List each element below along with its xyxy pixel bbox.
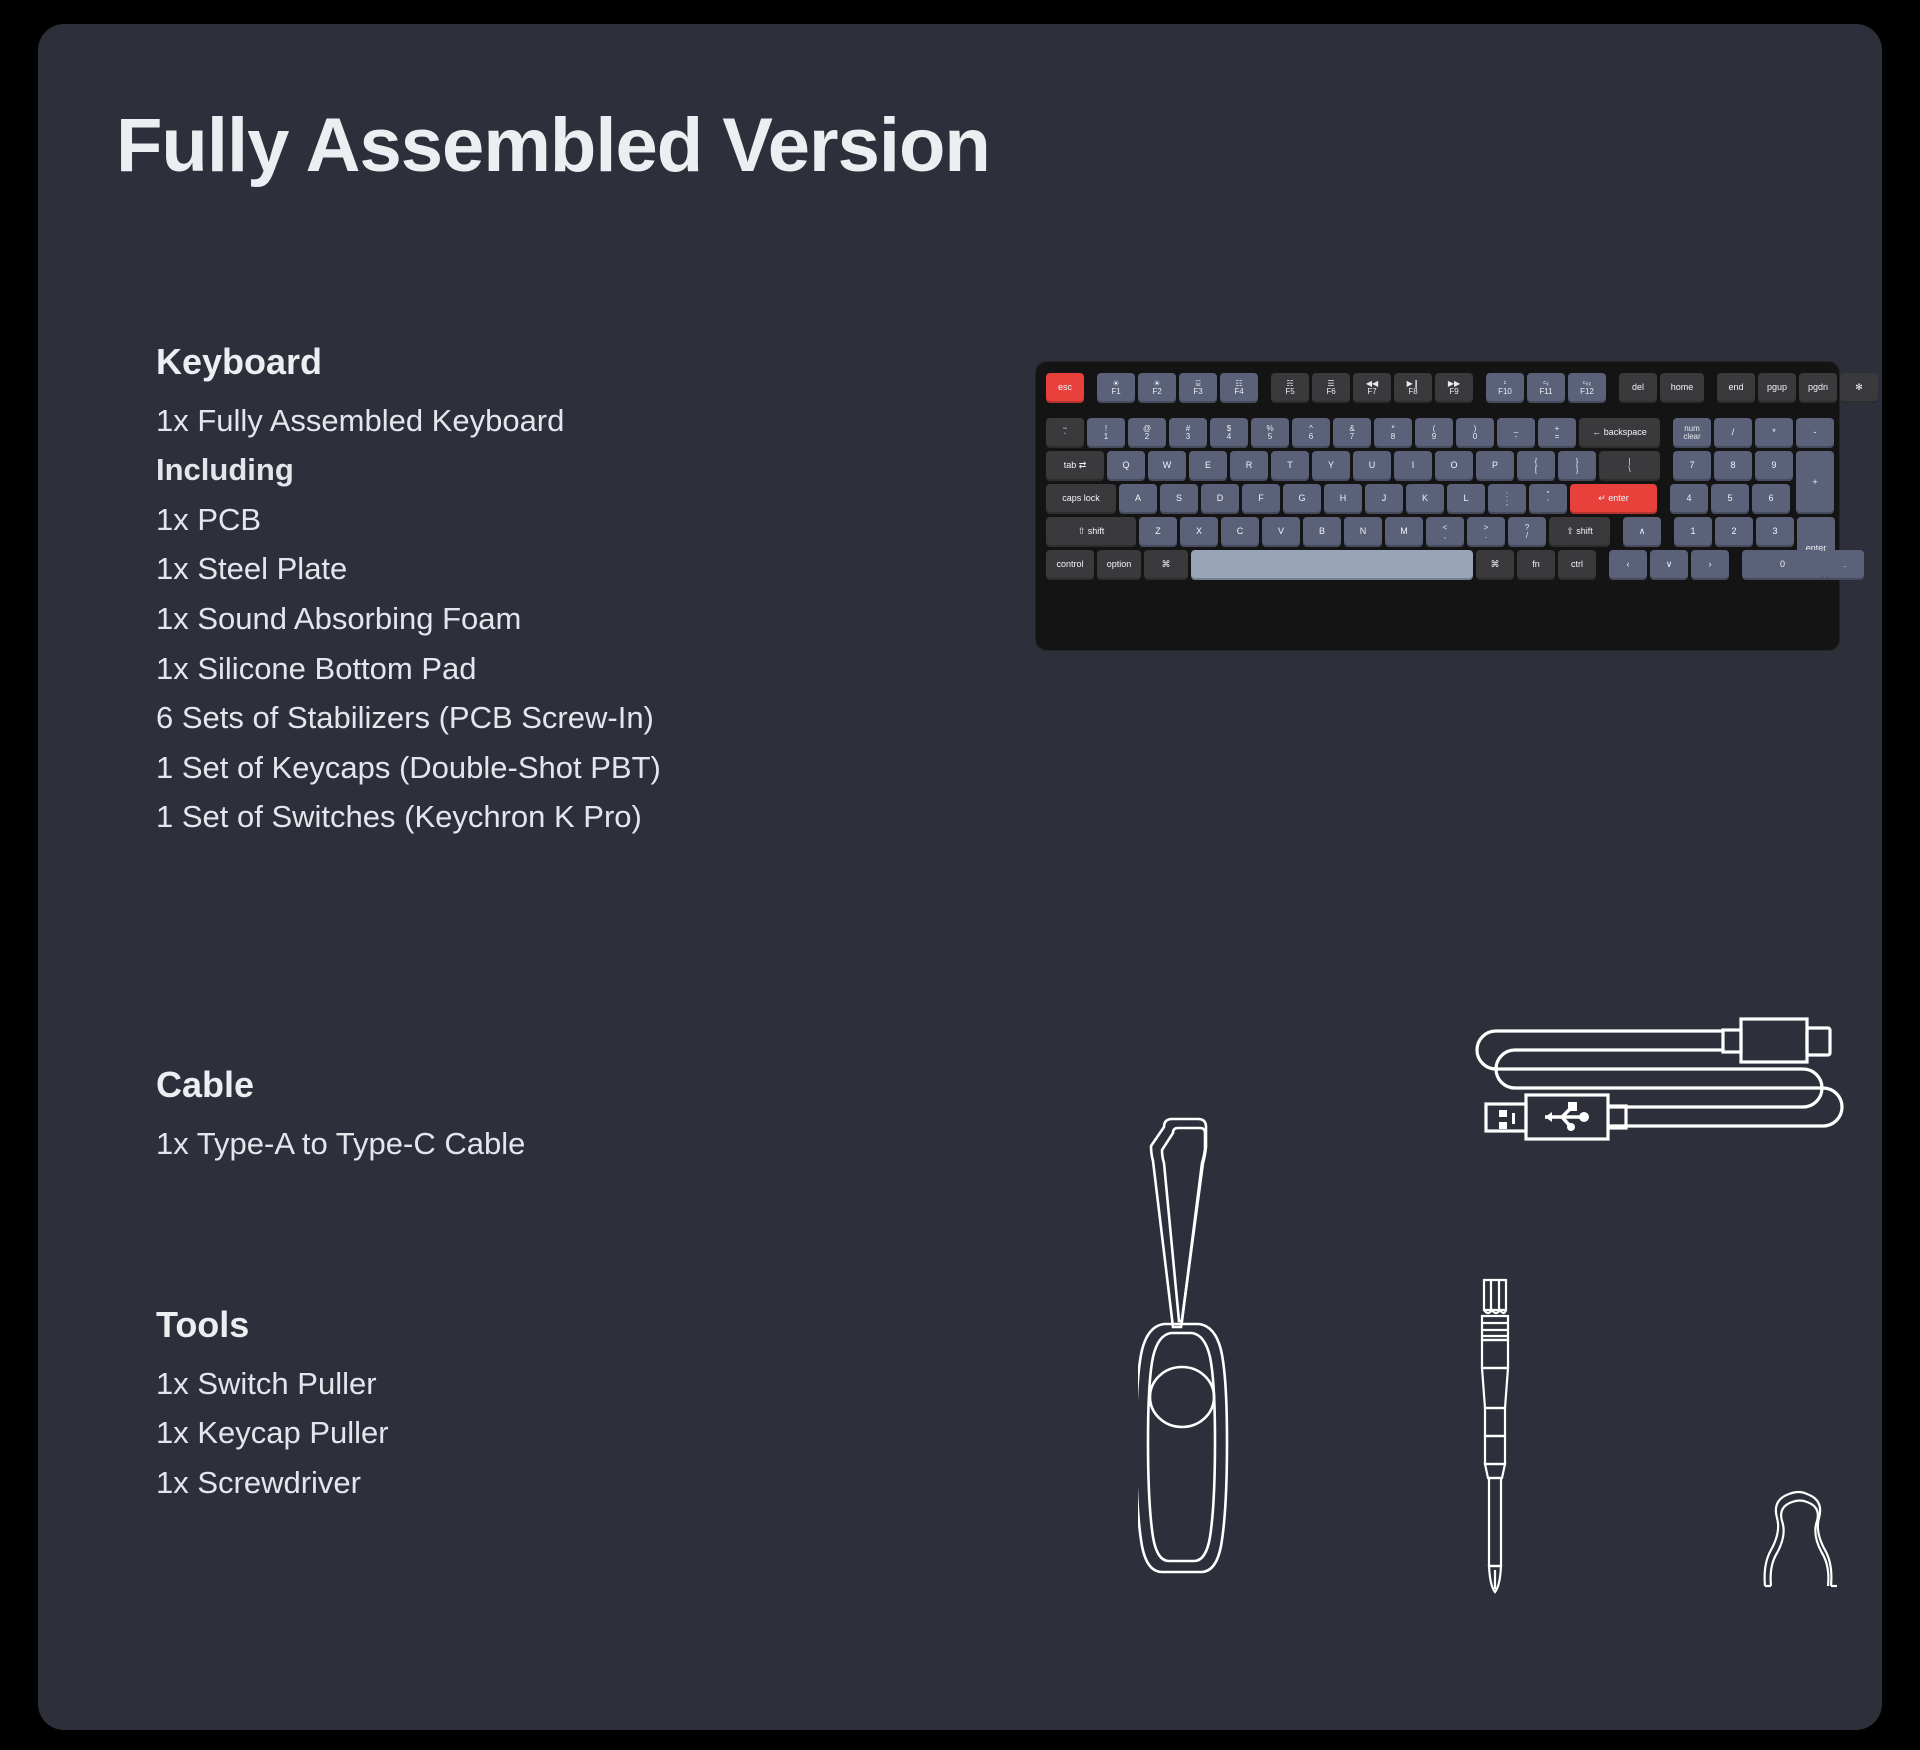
key-legend: esc [1058,383,1072,392]
keyboard-key[interactable]: W [1148,451,1186,481]
keyboard-key[interactable]: 0 [1742,550,1823,580]
keyboard-key[interactable]: L [1447,484,1485,514]
keyboard-key[interactable]: fn [1517,550,1555,580]
keyboard-key[interactable]: R [1230,451,1268,481]
key-legend: control [1056,560,1083,569]
key-legend: tab ⇄ [1064,461,1087,470]
key-legend-bottom: F8 [1408,388,1417,396]
key-legend-bottom: 1 [1104,433,1108,441]
keyboard-key[interactable]: &7 [1333,418,1371,448]
keyboard-key[interactable]: F [1242,484,1280,514]
keyboard-key[interactable]: ∨ [1650,550,1688,580]
key-legend-bottom: ; [1506,499,1508,507]
keycap-puller-illustration [1753,1464,1848,1594]
keyboard-key[interactable]: ☵F5 [1271,373,1309,403]
key-legend-bottom: = [1555,433,1560,441]
key-legend-bottom: 5 [1268,433,1272,441]
keyboard-row-number-row: ~`!1@2#3$4%5^6&7*8(9)0_-+=← backspacenum… [1046,418,1837,448]
key-legend-bottom: clear [1683,433,1700,441]
keyboard-key[interactable]: ⌘ [1144,550,1188,580]
keyboard-key[interactable]: |\ [1599,451,1660,481]
keyboard-key[interactable]: ctrl [1558,550,1596,580]
keyboard-key[interactable]: ▶❙F8 [1394,373,1432,403]
key-legend: / [1732,428,1735,437]
key-legend-bottom: F9 [1449,388,1458,396]
keyboard-row-home-row: caps lockASDFGHJKL:;"'↵ enter456 [1046,484,1793,514]
key-legend: ↵ enter [1598,494,1629,503]
key-legend-bottom: F6 [1326,388,1335,396]
key-legend: ⌘ [1491,560,1500,569]
key-legend-bottom: [ [1535,466,1537,474]
key-legend: ⌘ [1162,560,1171,569]
key-legend: L [1463,494,1468,503]
key-legend: ∧ [1639,527,1646,536]
spec-item: 1x PCB [156,495,661,545]
keyboard-key[interactable]: ∧ [1623,517,1661,547]
keyboard-key[interactable]: option [1097,550,1141,580]
key-legend: B [1319,527,1325,536]
keyboard-key[interactable]: ◀◀F7 [1353,373,1391,403]
keyboard-key[interactable]: P [1476,451,1514,481]
key-legend: - [1814,428,1817,437]
key-legend-bottom: \ [1628,466,1630,474]
key-legend: ctrl [1571,560,1583,569]
key-legend: M [1400,527,1408,536]
keyboard-key[interactable]: X [1180,517,1218,547]
key-legend: pgup [1767,383,1787,392]
key-legend: C [1237,527,1244,536]
keyboard-key[interactable]: ← backspace [1579,418,1660,448]
key-legend: N [1360,527,1367,536]
key-legend: 0 [1780,560,1785,569]
keyboard-key[interactable]: ᶜ‹F11 [1527,373,1565,403]
key-legend: ∨ [1666,560,1673,569]
key-legend: D [1217,494,1224,503]
keyboard-key[interactable]: ⇧ shift [1046,517,1136,547]
keyboard-key[interactable]: * [1755,418,1793,448]
screwdriver-illustration [1478,1274,1518,1604]
keyboard-key[interactable]: V [1262,517,1300,547]
key-legend: Z [1155,527,1161,536]
card-panel: Fully Assembled Version Keyboard 1x Full… [38,24,1882,1730]
keyboard-key[interactable]: 1 [1674,517,1712,547]
key-legend: end [1728,383,1743,392]
section-tools: Tools 1x Switch Puller 1x Keycap Puller … [156,1305,389,1507]
key-legend: I [1412,461,1415,470]
keyboard-key[interactable]: ᶜF10 [1486,373,1524,403]
key-legend: ✻ [1855,383,1863,392]
section-heading: Tools [156,1305,389,1345]
key-legend: X [1196,527,1202,536]
keyboard-key[interactable]: E [1189,451,1227,481]
key-legend: A [1135,494,1141,503]
key-legend-bottom: , [1444,532,1446,540]
keyboard-key[interactable]: #3 [1169,418,1207,448]
key-legend-bottom: F2 [1152,388,1161,396]
keyboard-key[interactable]: %5 [1251,418,1289,448]
keyboard-key[interactable]: }] [1558,451,1596,481]
key-legend-bottom: . [1485,532,1487,540]
keyboard-key[interactable]: ‹ [1609,550,1647,580]
keyboard-key[interactable]: M [1385,517,1423,547]
key-legend: fn [1532,560,1540,569]
keyboard-key[interactable]: - [1796,418,1834,448]
keyboard-key[interactable]: U [1353,451,1391,481]
spec-item: 1x Keycap Puller [156,1408,389,1458]
key-legend: Y [1328,461,1334,470]
section-keyboard: Keyboard 1x Fully Assembled Keyboard Inc… [156,342,661,842]
keyboard-key[interactable]: esc [1046,373,1084,403]
key-legend-bottom: - [1515,433,1518,441]
keyboard-key[interactable]: ☀F1 [1097,373,1135,403]
key-legend-bottom: F12 [1580,388,1594,396]
key-legend-bottom: F1 [1111,388,1120,396]
keyboard-key[interactable]: ☰F6 [1312,373,1350,403]
key-legend-bottom: 6 [1309,433,1313,441]
key-legend: 2 [1731,527,1736,536]
keyboard-key[interactable]: / [1714,418,1752,448]
key-legend-bottom: 0 [1473,433,1477,441]
keyboard-key[interactable]: += [1538,418,1576,448]
key-legend-bottom: 2 [1145,433,1149,441]
key-legend: home [1671,383,1694,392]
keyboard-key[interactable]: ~` [1046,418,1084,448]
keyboard-row-function-row: esc☀F1☀F2⌸F3☷F4☵F5☰F6◀◀F7▶❙F8▶▶F9ᶜF10ᶜ‹F… [1046,373,1881,403]
key-legend-bottom: ` [1064,433,1067,441]
key-legend: 6 [1768,494,1773,503]
key-legend: Q [1122,461,1129,470]
keyboard-key[interactable]: del [1619,373,1657,403]
key-legend-bottom: / [1526,532,1528,540]
keyboard-key[interactable]: Z [1139,517,1177,547]
keyboard-key[interactable]: tab ⇄ [1046,451,1104,481]
key-legend: U [1369,461,1376,470]
page-title: Fully Assembled Version [116,102,990,189]
keyboard-key[interactable]: ⇧ shift [1549,517,1610,547]
keyboard-key[interactable]: N [1344,517,1382,547]
keyboard-key[interactable] [1191,550,1473,580]
keyboard-key[interactable]: ☀F2 [1138,373,1176,403]
keyboard-key[interactable]: <, [1426,517,1464,547]
keyboard-key[interactable]: Y [1312,451,1350,481]
key-legend-bottom: 3 [1186,433,1190,441]
key-legend: R [1246,461,1253,470]
keyboard-key[interactable]: ↵ enter [1570,484,1657,514]
keyboard-key[interactable]: numclear [1673,418,1711,448]
keyboard-key[interactable]: . [1826,550,1864,580]
key-legend-bottom: F11 [1539,388,1552,396]
keyboard-key[interactable]: O [1435,451,1473,481]
key-legend: . [1844,560,1847,569]
key-legend-bottom: F10 [1498,388,1512,396]
keyboard-key[interactable]: A [1119,484,1157,514]
key-legend: 5 [1727,494,1732,503]
key-legend: W [1163,461,1172,470]
keyboard-key[interactable]: 7 [1673,451,1711,481]
spec-item: 1x Switch Puller [156,1359,389,1409]
keyboard-key[interactable]: end [1717,373,1755,403]
keyboard-key[interactable]: 8 [1714,451,1752,481]
section-cable: Cable 1x Type-A to Type-C Cable [156,1065,525,1168]
key-legend: caps lock [1062,494,1100,503]
keyboard-key[interactable]: 5 [1711,484,1749,514]
keyboard-key[interactable]: 2 [1715,517,1753,547]
keyboard-key[interactable]: › [1691,550,1729,580]
key-legend: 9 [1771,461,1776,470]
key-legend: V [1278,527,1284,536]
keyboard-keys: esc☀F1☀F2⌸F3☷F4☵F5☰F6◀◀F7▶❙F8▶▶F9ᶜF10ᶜ‹F… [1046,373,1829,639]
key-legend: T [1287,461,1293,470]
keyboard-key[interactable]: ᶜ‹‹F12 [1568,373,1606,403]
key-legend-bottom: 4 [1227,433,1231,441]
section-heading: Cable [156,1065,525,1105]
key-legend: ⇧ shift [1078,527,1105,536]
keyboard-key[interactable]: caps lock [1046,484,1116,514]
keyboard-key[interactable]: D [1201,484,1239,514]
keyboard-key[interactable]: _- [1497,418,1535,448]
switch-puller-illustration [1138,1109,1238,1574]
keyboard-key[interactable]: !1 [1087,418,1125,448]
keyboard-key[interactable]: S [1160,484,1198,514]
key-legend: * [1772,428,1776,437]
keyboard-key[interactable]: *8 [1374,418,1412,448]
key-legend-bottom: 9 [1432,433,1436,441]
keyboard-key[interactable]: home [1660,373,1704,403]
spec-item: 1x Screwdriver [156,1458,389,1508]
key-legend-bottom: ' [1547,499,1549,507]
key-legend: J [1382,494,1387,503]
key-legend-bottom: ] [1576,466,1578,474]
key-legend: › [1709,560,1712,569]
key-legend-bottom: F4 [1234,388,1243,396]
keyboard-key[interactable]: ☷F4 [1220,373,1258,403]
key-legend: O [1450,461,1457,470]
keyboard-key[interactable]: ?/ [1508,517,1546,547]
keyboard-key[interactable]: 3 [1756,517,1794,547]
keyboard-key[interactable]: control [1046,550,1094,580]
key-legend: + [1812,478,1817,487]
keyboard-key[interactable]: ⌘ [1476,550,1514,580]
keyboard-key[interactable]: 6 [1752,484,1790,514]
keyboard-key[interactable]: ✻ [1840,373,1878,403]
keyboard-key[interactable]: $4 [1210,418,1248,448]
key-legend-bottom: 8 [1391,433,1395,441]
spec-item: 1x Silicone Bottom Pad [156,644,661,694]
keyboard-key[interactable]: "' [1529,484,1567,514]
key-legend: pgdn [1808,383,1828,392]
keyboard-key[interactable]: ^6 [1292,418,1330,448]
spec-item: Including [156,445,661,495]
key-legend: del [1632,383,1644,392]
keyboard-key[interactable]: J [1365,484,1403,514]
spec-item: 1x Type-A to Type-C Cable [156,1119,525,1169]
keyboard-key[interactable]: B [1303,517,1341,547]
spec-item: 1 Set of Switches (Keychron K Pro) [156,792,661,842]
keyboard-key[interactable]: ▶▶F9 [1435,373,1473,403]
key-legend: 3 [1772,527,1777,536]
keyboard-row-bottom-row: controloption⌘⌘fnctrl‹∨›0. [1046,550,1867,580]
keyboard-key[interactable]: I [1394,451,1432,481]
keyboard-key[interactable]: ⌸F3 [1179,373,1217,403]
keyboard-key[interactable]: )0 [1456,418,1494,448]
keyboard-key[interactable]: G [1283,484,1321,514]
key-legend: P [1492,461,1498,470]
key-legend: ← backspace [1592,428,1647,437]
keyboard-key[interactable]: pgup [1758,373,1796,403]
keyboard-key[interactable]: 4 [1670,484,1708,514]
keyboard-key[interactable]: :; [1488,484,1526,514]
usb-cable-illustration [1458,1009,1858,1224]
key-legend-bottom: F5 [1285,388,1294,396]
keyboard-key[interactable]: T [1271,451,1309,481]
keyboard-key[interactable]: >. [1467,517,1505,547]
key-legend: ⇧ shift [1566,527,1593,536]
key-legend: 4 [1686,494,1691,503]
spec-item: 1x Steel Plate [156,544,661,594]
keyboard-key[interactable]: @2 [1128,418,1166,448]
section-heading: Keyboard [156,342,661,382]
key-legend: option [1107,560,1132,569]
keyboard-illustration: esc☀F1☀F2⌸F3☷F4☵F5☰F6◀◀F7▶❙F8▶▶F9ᶜF10ᶜ‹F… [1035,361,1840,651]
key-legend: E [1205,461,1211,470]
key-legend-bottom: 7 [1350,433,1354,441]
keyboard-key[interactable]: pgdn [1799,373,1837,403]
key-legend: K [1422,494,1428,503]
keyboard-key[interactable]: K [1406,484,1444,514]
key-legend: ‹ [1627,560,1630,569]
key-legend: H [1340,494,1347,503]
spec-item: 1 Set of Keycaps (Double-Shot PBT) [156,743,661,793]
key-legend: S [1176,494,1182,503]
keyboard-key[interactable]: Q [1107,451,1145,481]
spec-item: 6 Sets of Stabilizers (PCB Screw-In) [156,693,661,743]
keyboard-key[interactable]: H [1324,484,1362,514]
keyboard-key[interactable]: C [1221,517,1259,547]
key-legend: F [1258,494,1264,503]
keyboard-key[interactable]: (9 [1415,418,1453,448]
key-legend-bottom: F3 [1193,388,1202,396]
key-legend: G [1298,494,1305,503]
spec-item: 1x Fully Assembled Keyboard [156,396,661,446]
key-legend: 7 [1689,461,1694,470]
spec-item: 1x Sound Absorbing Foam [156,594,661,644]
keyboard-key[interactable]: {[ [1517,451,1555,481]
keyboard-key[interactable]: 9 [1755,451,1793,481]
key-legend-bottom: F7 [1367,388,1376,396]
key-legend: 8 [1730,461,1735,470]
key-legend: 1 [1690,527,1695,536]
keyboard-key[interactable]: + [1796,451,1834,514]
